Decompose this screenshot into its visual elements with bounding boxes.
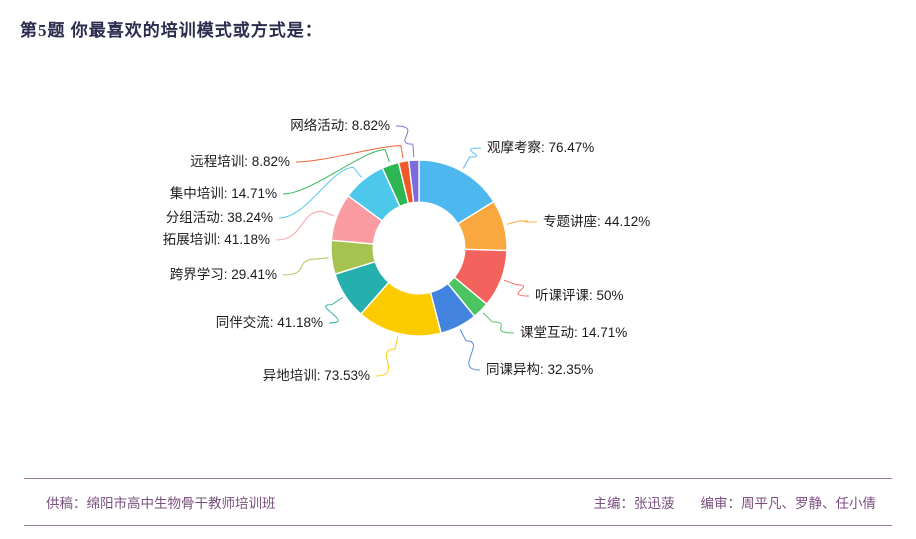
slice-label: 观摩考察: 76.47%	[487, 139, 594, 155]
slice-label: 同课异构: 32.35%	[486, 362, 593, 377]
leader-line	[326, 298, 343, 323]
footer-editor: 主编：张迅菠	[594, 492, 675, 512]
slice-label: 集中培训: 14.71%	[170, 186, 277, 201]
slice-label: 分组活动: 38.24%	[166, 210, 273, 225]
leader-line	[376, 337, 398, 376]
slice-label: 专题讲座: 44.12%	[543, 214, 650, 229]
slice-label: 跨界学习: 29.41%	[170, 267, 277, 282]
donut-labels: 观摩考察: 76.47%专题讲座: 44.12%听课评课: 50%课堂互动: 1…	[163, 118, 651, 383]
newsletter-page: 第5题 你最喜欢的培训模式或方式是： 观摩考察: 76.47%专题讲座: 44.…	[0, 0, 916, 539]
leader-line	[396, 126, 414, 157]
leader-line	[507, 221, 537, 224]
slice-label: 异地培训: 73.53%	[263, 368, 370, 383]
slice-label: 拓展培训: 41.18%	[163, 232, 270, 247]
leader-line	[276, 211, 334, 240]
slice-label: 同伴交流: 41.18%	[216, 314, 323, 330]
leader-line	[463, 148, 481, 168]
slice-label: 听课评课: 50%	[535, 288, 624, 303]
leader-line	[283, 258, 329, 275]
donut-slices	[331, 160, 507, 336]
footer-credits: 主编：张迅菠 编审：周平凡、罗静、任小倩	[594, 492, 893, 512]
leader-line	[460, 329, 480, 370]
footer-source: 供稿：绵阳市高中生物骨干教师培训班	[24, 492, 276, 512]
page-title: 第5题 你最喜欢的培训模式或方式是：	[20, 16, 323, 41]
footer-bar: 供稿：绵阳市高中生物骨干教师培训班 主编：张迅菠 编审：周平凡、罗静、任小倩	[24, 478, 892, 526]
leader-line	[504, 280, 529, 296]
leader-line	[483, 313, 514, 333]
slice-label: 网络活动: 8.82%	[290, 118, 390, 133]
donut-chart-container: 观摩考察: 76.47%专题讲座: 44.12%听课评课: 50%课堂互动: 1…	[0, 70, 916, 460]
donut-chart: 观摩考察: 76.47%专题讲座: 44.12%听课评课: 50%课堂互动: 1…	[0, 70, 916, 460]
slice-label: 课堂互动: 14.71%	[520, 325, 627, 340]
footer-reviewer: 编审：周平凡、罗静、任小倩	[701, 492, 877, 512]
slice-label: 远程培训: 8.82%	[190, 154, 290, 169]
